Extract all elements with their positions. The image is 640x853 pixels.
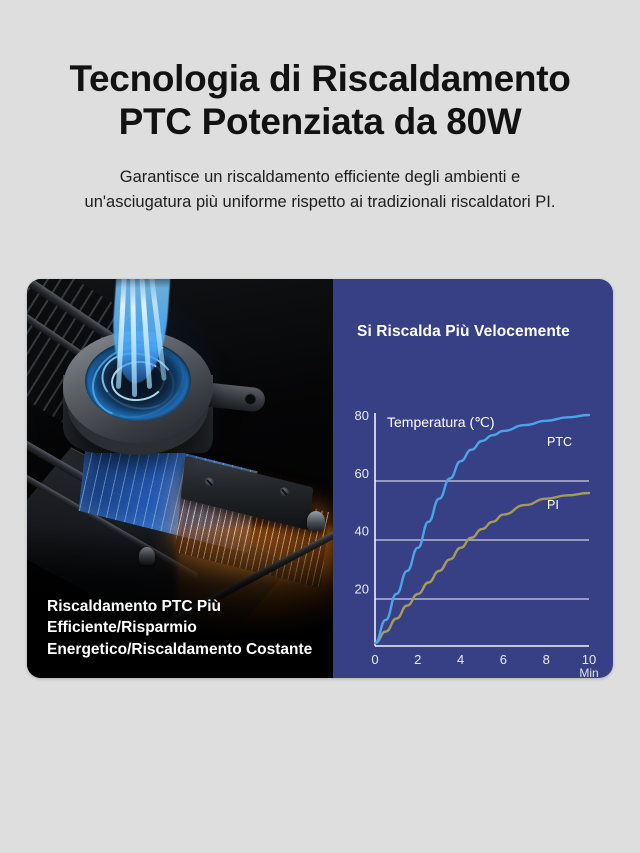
headline-line-2: PTC Potenziata da 80W [34,101,606,144]
header: Tecnologia di Riscaldamento PTC Potenzia… [0,0,640,215]
x-tick-6: 6 [500,652,507,667]
chart-y-tick-labels: 80 60 40 20 [355,408,369,596]
x-tick-0: 0 [371,652,378,667]
x-tick-8: 8 [543,652,550,667]
photo-caption: Riscaldamento PTC Più Efficiente/Risparm… [47,596,317,660]
y-tick-60: 60 [355,466,369,481]
screw-icon [280,486,290,497]
screw-icon [205,477,215,488]
y-tick-40: 40 [355,524,369,539]
x-tick-10: 10 [582,652,596,667]
chart-series-label-ptc: PTC [547,435,572,449]
y-tick-80: 80 [355,408,369,423]
x-tick-4: 4 [457,652,464,667]
heating-speed-chart: Temperatura (℃) 80 60 40 20 0 2 4 6 8 10… [333,279,613,678]
chart-x-axis-unit: Min [579,666,598,678]
chart-x-tick-labels: 0 2 4 6 8 10 [371,652,596,667]
y-tick-20: 20 [355,581,369,596]
chart-y-axis-title: Temperatura (℃) [387,414,495,430]
product-photo-panel: Riscaldamento PTC Più Efficiente/Risparm… [27,279,333,678]
x-tick-2: 2 [414,652,421,667]
chart-panel: Si Riscalda Più Velocemente Temperatura … [333,279,613,678]
chart-series-pi [375,493,589,643]
headline-line-1: Tecnologia di Riscaldamento [34,58,606,101]
chart-series-label-pi: PI [547,498,559,512]
feature-panels: Riscaldamento PTC Più Efficiente/Risparm… [27,279,613,678]
page-subtitle: Garantisce un riscaldamento efficiente d… [34,165,606,215]
page-title: Tecnologia di Riscaldamento PTC Potenzia… [34,58,606,143]
